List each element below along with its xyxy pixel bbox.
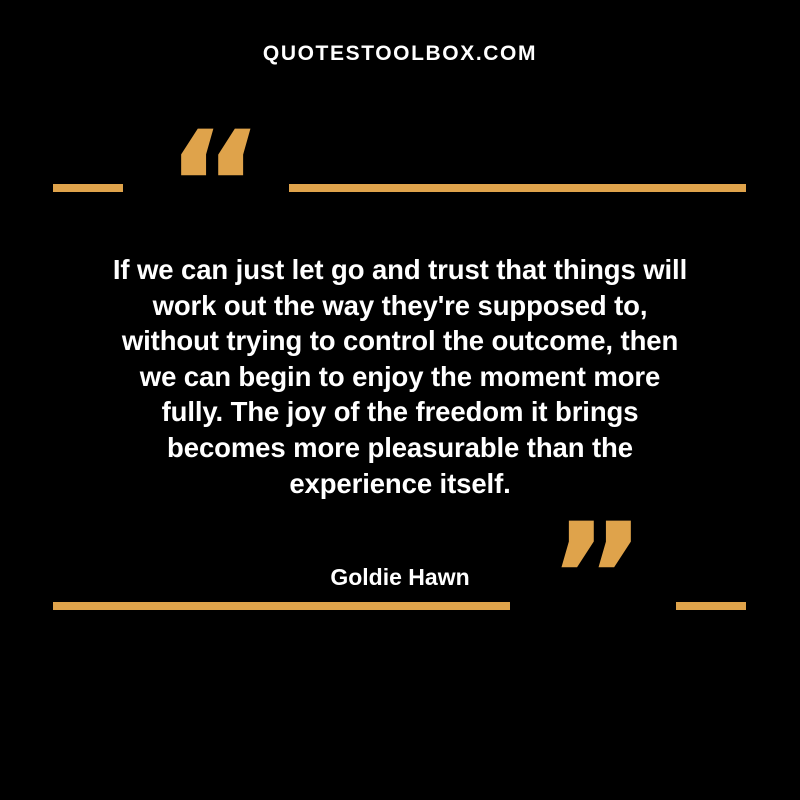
top-short-rule bbox=[53, 184, 123, 192]
bottom-short-rule bbox=[676, 602, 746, 610]
quote-line: If we can just let go and trust that thi… bbox=[70, 252, 730, 288]
bottom-long-rule bbox=[53, 602, 510, 610]
quote-line: without trying to control the outcome, t… bbox=[70, 323, 730, 359]
closing-quote-mark-icon: ” bbox=[540, 504, 648, 624]
quote-line: fully. The joy of the freedom it brings bbox=[70, 394, 730, 430]
quote-line: becomes more pleasurable than the bbox=[70, 430, 730, 466]
quote-line: we can begin to enjoy the moment more bbox=[70, 359, 730, 395]
quote-text: If we can just let go and trust that thi… bbox=[70, 252, 730, 501]
quote-line: work out the way they're supposed to, bbox=[70, 288, 730, 324]
quote-author: Goldie Hawn bbox=[0, 562, 800, 592]
opening-quote-mark-icon: “ bbox=[158, 112, 266, 232]
top-long-rule bbox=[289, 184, 746, 192]
site-watermark: QUOTESTOOLBOX.COM bbox=[0, 40, 800, 68]
quote-card: QUOTESTOOLBOX.COM “ If we can just let g… bbox=[0, 0, 800, 800]
